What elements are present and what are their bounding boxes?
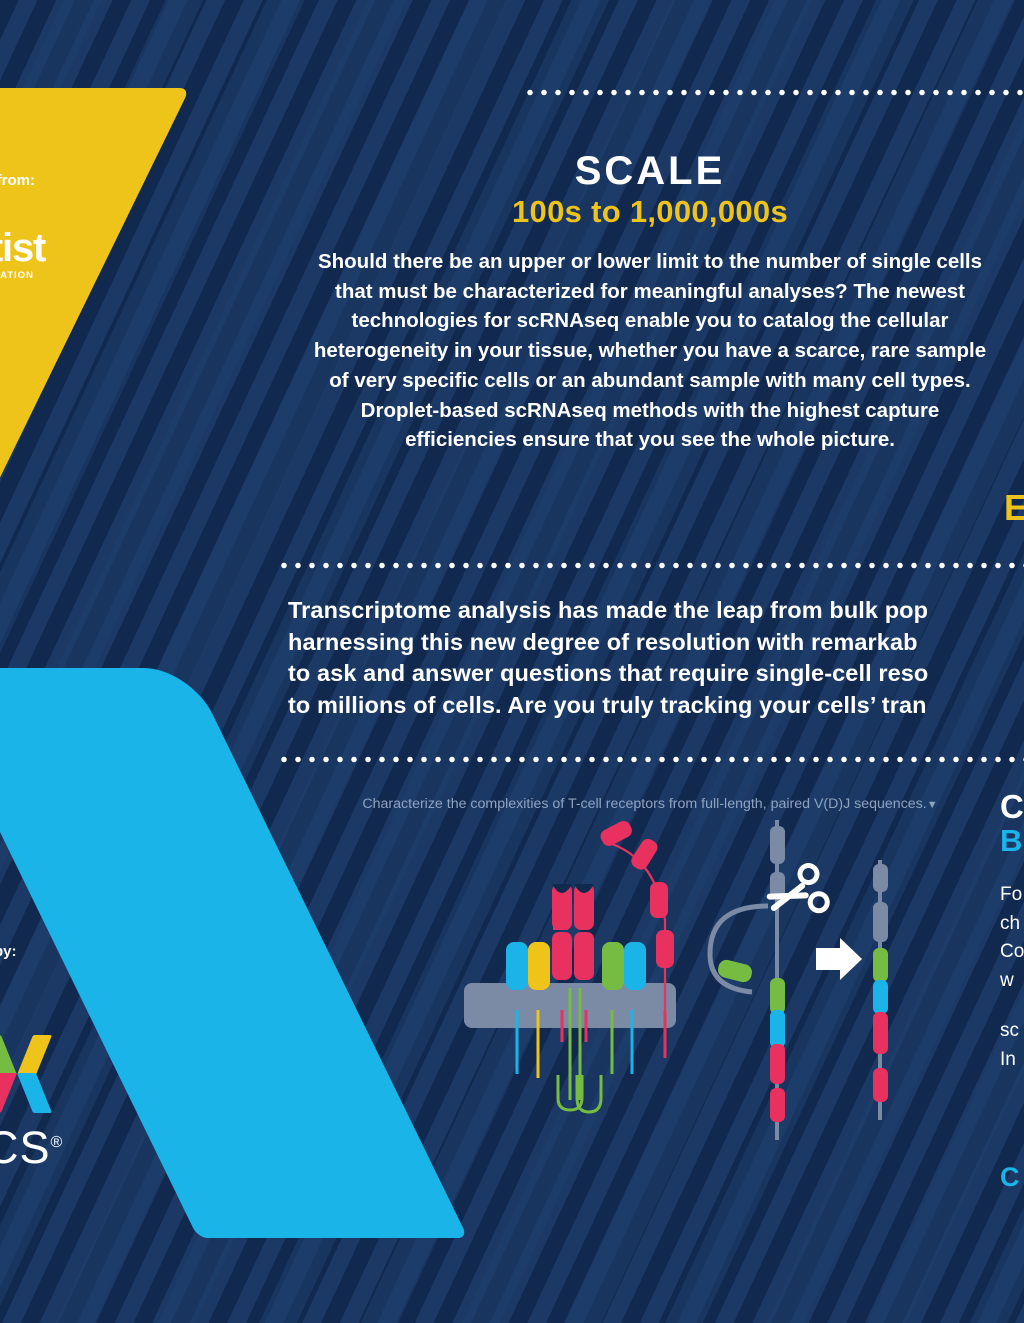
caret-down-icon: ▼ xyxy=(927,799,938,811)
caption-text: Characterize the complexities of T-cell … xyxy=(362,796,926,812)
mid-gray-seg-1 xyxy=(770,826,785,864)
capture-probe-cyan xyxy=(506,942,528,990)
final-pink-seg-2 xyxy=(873,1068,888,1102)
mid-green-seg xyxy=(770,978,785,1014)
tenx-wordmark: MICS® xyxy=(0,1122,63,1174)
final-green-seg xyxy=(873,948,888,982)
tcr-chain-right-lower xyxy=(574,932,594,980)
statement-line-4: to millions of cells. Are you truly trac… xyxy=(288,690,1024,722)
tenx-x-icon xyxy=(0,1035,49,1111)
the-scientist-wordmark: ...ientist xyxy=(0,228,45,268)
mid-pink-seg-1 xyxy=(770,1044,785,1084)
mrna-seg-3 xyxy=(650,882,668,918)
divider-dotted-middle xyxy=(277,562,1024,569)
mid-cyan-seg xyxy=(770,1010,785,1048)
right-column-body: Fo ch Co w xyxy=(1000,881,1024,995)
edge-cut-letter: E xyxy=(1004,487,1024,529)
powered-by-label: ...red by: xyxy=(0,943,17,960)
tenx-wordmark-text: MICS xyxy=(0,1122,51,1173)
the-scientist-logo: ...ientist ...SPIRING INNOVATION xyxy=(0,228,45,281)
arrow-right-icon xyxy=(816,938,862,980)
statement-line-1: Transcriptome analysis has made the leap… xyxy=(288,595,1024,627)
statement-line-3: to ask and answer questions that require… xyxy=(288,658,1024,690)
infographic-page: ...shing from: ...ientist ...SPIRING INN… xyxy=(0,0,1024,1323)
mrna-seg-2 xyxy=(629,836,660,872)
capture-probe-cyan-b xyxy=(624,942,646,990)
mrna-seg-4 xyxy=(656,930,674,968)
statement-line-2: harnessing this new degree of resolution… xyxy=(288,627,1024,659)
final-cyan-seg xyxy=(873,980,888,1014)
right-body-line-4: w xyxy=(1000,967,1024,996)
divider-dotted-top xyxy=(523,89,1024,96)
final-gray-seg-1 xyxy=(873,864,888,892)
divider-dotted-bottom xyxy=(277,756,1024,763)
right-column-link[interactable]: C xyxy=(1000,1162,1024,1193)
registered-mark: ® xyxy=(51,1134,64,1151)
capture-probe-green xyxy=(602,942,624,990)
right-body2-line-1: sc xyxy=(1000,1017,1024,1046)
right-body-line-1: Fo xyxy=(1000,881,1024,910)
scale-subheading: 100s to 1,000,000s xyxy=(300,194,1000,230)
mid-pink-seg-2 xyxy=(770,1088,785,1122)
the-scientist-tagline: ...SPIRING INNOVATION xyxy=(0,270,45,281)
scale-heading: SCALE xyxy=(300,150,1000,192)
final-gray-seg-2 xyxy=(873,902,888,942)
scissors-icon xyxy=(761,863,830,926)
final-pink-seg-1 xyxy=(873,1012,888,1054)
center-statement: Transcriptome analysis has made the leap… xyxy=(288,595,1024,722)
right-body2-line-2: In xyxy=(1000,1046,1024,1075)
capture-probe-yellow xyxy=(528,942,550,990)
right-body-line-3: Co xyxy=(1000,938,1024,967)
tcr-chain-left-lower xyxy=(552,932,572,980)
mrna-seg-1 xyxy=(598,820,634,848)
scale-section: SCALE 100s to 1,000,000s Should there be… xyxy=(300,150,1000,455)
right-column-subtitle: B xyxy=(1000,825,1024,858)
tcr-vdj-sequencing-diagram xyxy=(460,820,910,1140)
right-column-section: C B Fo ch Co w sc In C xyxy=(1000,790,1024,1193)
published-from-label: ...shing from: xyxy=(0,172,35,189)
right-column-body-2: sc In xyxy=(1000,1017,1024,1074)
tenx-genomics-logo: 0 MICS® xyxy=(0,1018,63,1174)
right-body-line-2: ch xyxy=(1000,910,1024,939)
illustration-caption: Characterize the complexities of T-cell … xyxy=(320,796,980,812)
scale-body-text: Should there be an upper or lower limit … xyxy=(300,247,1000,455)
right-column-title: C xyxy=(1000,790,1024,825)
